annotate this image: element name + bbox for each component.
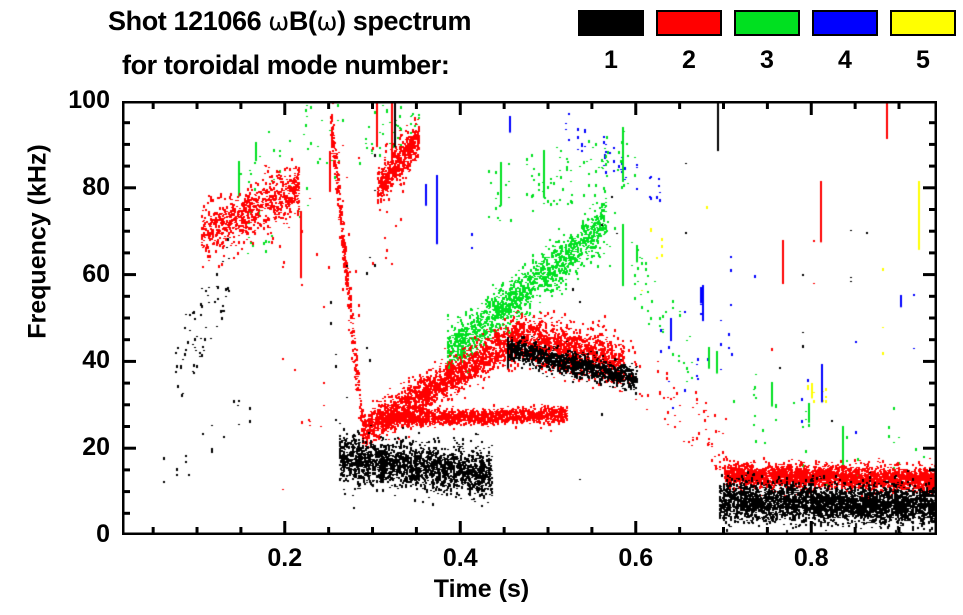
legend-entry-3: 3	[734, 10, 800, 74]
title-prefix: Shot 121066	[108, 6, 268, 36]
y-axis-title: Frequency (kHz)	[24, 132, 53, 352]
legend-swatch-1	[578, 10, 644, 36]
spectrogram-canvas	[122, 101, 937, 535]
legend-label-2: 2	[656, 46, 722, 74]
legend-label-4: 4	[812, 46, 878, 74]
legend-entry-5: 5	[890, 10, 956, 74]
omega-symbol-1: ω	[268, 7, 289, 36]
y-tick-label-0: 0	[20, 522, 110, 547]
x-tick-label-0.8: 0.8	[766, 546, 856, 571]
legend-swatch-4	[812, 10, 878, 36]
page-title: Shot 121066 ωB(ω) spectrum	[108, 6, 471, 37]
title-suffix: ) spectrum	[337, 6, 471, 36]
omega-symbol-2: ω	[317, 7, 338, 36]
legend-swatch-2	[656, 10, 722, 36]
title-mid: B(	[289, 6, 317, 36]
page-subtitle: for toroidal mode number:	[122, 50, 450, 81]
x-tick-label-0.6: 0.6	[591, 546, 681, 571]
legend-swatch-5	[890, 10, 956, 36]
legend-entry-1: 1	[578, 10, 644, 74]
x-tick-label-0.4: 0.4	[415, 546, 505, 571]
legend-entry-4: 4	[812, 10, 878, 74]
legend-label-1: 1	[578, 46, 644, 74]
x-axis-title: Time (s)	[0, 575, 963, 604]
x-tick-label-0.2: 0.2	[240, 546, 330, 571]
y-tick-label-20: 20	[20, 435, 110, 460]
legend-swatch-3	[734, 10, 800, 36]
legend-entry-2: 2	[656, 10, 722, 74]
y-tick-label-40: 40	[20, 348, 110, 373]
legend-label-5: 5	[890, 46, 956, 74]
figure-root: Shot 121066 ωB(ω) spectrum for toroidal …	[0, 0, 963, 615]
legend: 12345	[578, 10, 958, 92]
legend-label-3: 3	[734, 46, 800, 74]
plot-area	[122, 101, 937, 535]
